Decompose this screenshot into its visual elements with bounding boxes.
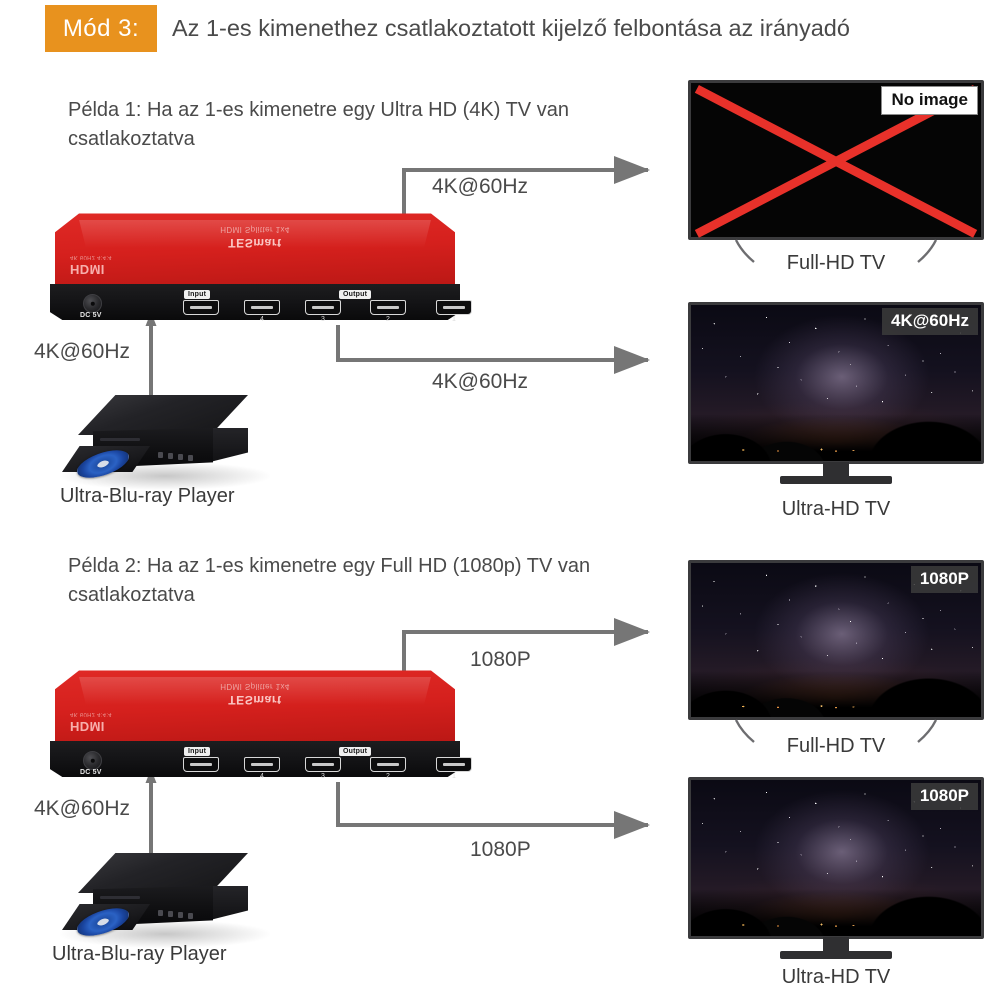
hdmi-output-port-4[interactable]: [244, 757, 280, 772]
hdmi-output-port-1[interactable]: [436, 300, 472, 315]
dc-power-label: DC 5V: [80, 312, 102, 319]
tv-screen-town-lights: [691, 920, 981, 929]
hdmi-logo-label: HDMI: [70, 719, 105, 734]
hdmi-output-port-2[interactable]: [370, 300, 406, 315]
mode-header-banner: Mód 3: Az 1-es kimenethez csatlakoztatot…: [0, 0, 1000, 55]
mode-badge: Mód 3:: [45, 5, 157, 52]
input-port-tag: Input: [184, 290, 210, 299]
display-ultrahd-tv-1-caption: Ultra-HD TV: [688, 498, 984, 521]
hdmi-output-port-1[interactable]: [436, 757, 472, 772]
tv-status-badge: 1080P: [911, 783, 978, 810]
hdmi-output-port-3[interactable]: [305, 300, 341, 315]
display-fullhd-tv-1: No image: [688, 80, 984, 245]
hdmi-input-port[interactable]: [183, 757, 219, 772]
output-ports-tag: Output: [339, 747, 371, 756]
hdmi-spec-label: 4K 60Hz 4:4:4: [70, 711, 112, 717]
bluray-side-panel: [210, 886, 248, 920]
flow-label-port1-example-1: 4K@60Hz: [432, 175, 528, 199]
splitter-brand-sub-label: HDMI Splitter 1x4: [50, 682, 460, 691]
hdmi-spec-label: 4K 60Hz 4:4:4: [70, 254, 112, 260]
splitter-top-shell: [55, 212, 455, 290]
bluray-player-2: [60, 848, 280, 948]
flow-label-source-example-1: 4K@60Hz: [34, 340, 130, 364]
display-fullhd-tv-1-caption: Full-HD TV: [688, 252, 984, 275]
tv-screen-town-lights: [691, 702, 981, 711]
tv-bezel: 1080P: [688, 560, 984, 720]
tv-bezel: 1080P: [688, 777, 984, 939]
splitter-brand-label: TESmart: [50, 693, 460, 707]
flow-label-port2-example-2: 1080P: [470, 838, 531, 862]
bluray-display-strip: [100, 896, 140, 899]
hdmi-input-port[interactable]: [183, 300, 219, 315]
hdmi-output-port-4-number: 4: [251, 773, 273, 780]
hdmi-output-port-1-number: 1: [443, 316, 465, 323]
bluray-button-1[interactable]: [158, 910, 163, 916]
hdmi-output-port-1-number: 1: [443, 773, 465, 780]
hdmi-splitter-device-2: TESmart HDMI Splitter 1x4 HDMI 4K 60Hz 4…: [50, 669, 460, 777]
bluray-button-2[interactable]: [168, 911, 173, 917]
example-1-description: Példa 1: Ha az 1-es kimenetre egy Ultra …: [68, 96, 668, 154]
tv-bezel: No image: [688, 80, 984, 240]
dc-power-label: DC 5V: [80, 769, 102, 776]
flow-label-port1-example-2: 1080P: [470, 648, 531, 672]
tv-screen-town-lights: [691, 445, 981, 454]
splitter-brand-label: TESmart: [50, 236, 460, 250]
tv-stand-base: [780, 951, 892, 959]
bluray-display-strip: [100, 438, 140, 441]
bluray-player-2-caption: Ultra-Blu-ray Player: [52, 943, 272, 966]
example-2-description: Példa 2: Ha az 1-es kimenetre egy Full H…: [68, 552, 658, 610]
wire-port2-to-ultrahd-tv: [338, 325, 648, 360]
wire-port2-to-ultrahd-tv-2: [338, 782, 648, 825]
bluray-button-4[interactable]: [188, 455, 193, 461]
tv-bezel: 4K@60Hz: [688, 302, 984, 464]
hdmi-output-port-2-number: 2: [377, 316, 399, 323]
hdmi-output-port-3-number: 3: [312, 316, 334, 323]
bluray-side-panel: [210, 428, 248, 462]
hdmi-output-port-4-number: 4: [251, 316, 273, 323]
splitter-top-shell: [55, 669, 455, 747]
display-ultrahd-tv-1: 4K@60Hz: [688, 302, 984, 487]
hdmi-output-port-3[interactable]: [305, 757, 341, 772]
input-port-tag: Input: [184, 747, 210, 756]
dc-power-jack[interactable]: [83, 751, 102, 770]
page-title: Az 1-es kimenethez csatlakoztatott kijel…: [172, 5, 850, 52]
display-fullhd-tv-2: 1080P: [688, 560, 984, 735]
display-ultrahd-tv-2-caption: Ultra-HD TV: [688, 966, 984, 989]
bluray-player-1: [60, 390, 280, 490]
display-ultrahd-tv-2: 1080P: [688, 777, 984, 962]
hdmi-logo-label: HDMI: [70, 262, 105, 277]
hdmi-output-port-2-number: 2: [377, 773, 399, 780]
bluray-button-4[interactable]: [188, 913, 193, 919]
bluray-button-3[interactable]: [178, 454, 183, 460]
tv-status-badge: 4K@60Hz: [882, 308, 978, 335]
flow-label-port2-example-1: 4K@60Hz: [432, 370, 528, 394]
hdmi-output-port-2[interactable]: [370, 757, 406, 772]
display-fullhd-tv-2-caption: Full-HD TV: [688, 735, 984, 758]
splitter-brand-sub-label: HDMI Splitter 1x4: [50, 225, 460, 234]
output-ports-tag: Output: [339, 290, 371, 299]
bluray-player-1-caption: Ultra-Blu-ray Player: [60, 485, 280, 508]
mode-badge-label: Mód 3:: [63, 15, 139, 43]
bluray-button-1[interactable]: [158, 452, 163, 458]
bluray-button-2[interactable]: [168, 453, 173, 459]
bluray-button-3[interactable]: [178, 912, 183, 918]
tv-stand-base: [780, 476, 892, 484]
hdmi-output-port-4[interactable]: [244, 300, 280, 315]
flow-label-source-example-2: 4K@60Hz: [34, 797, 130, 821]
dc-power-jack[interactable]: [83, 294, 102, 313]
tv-status-badge: 1080P: [911, 566, 978, 593]
tv-status-badge: No image: [881, 86, 978, 115]
hdmi-output-port-3-number: 3: [312, 773, 334, 780]
hdmi-splitter-device-1: TESmart HDMI Splitter 1x4 HDMI 4K 60Hz 4…: [50, 212, 460, 320]
